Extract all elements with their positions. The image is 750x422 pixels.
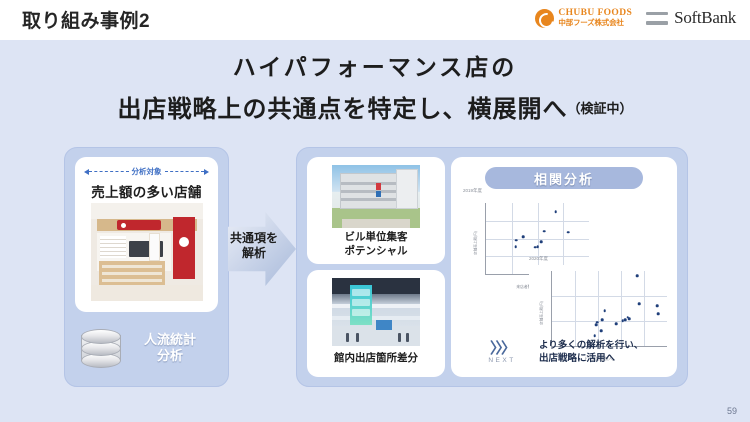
slide: 取り組み事例2 CHUBU FOODS 中部フーズ株式会社 SoftBank ハ…	[0, 0, 750, 422]
softbank-name: SoftBank	[674, 8, 736, 28]
mall-interior-photo	[332, 278, 420, 346]
scatter-point	[601, 318, 604, 321]
traffic-stats-label-line2: 分析	[123, 348, 217, 364]
gridline-h	[552, 296, 667, 297]
gridline-v	[512, 203, 513, 274]
building-potential-caption-line1: ビル単位集客	[307, 231, 445, 245]
traffic-stats-block: 人流統計 分析	[77, 320, 217, 376]
building-potential-caption: ビル単位集客 ポテンシャル	[307, 231, 445, 258]
gridline-v	[563, 203, 564, 274]
page-number: 59	[727, 406, 737, 416]
scatter-point	[600, 330, 603, 333]
softbank-logo: SoftBank	[646, 8, 736, 28]
scatter-point	[515, 239, 518, 242]
correlation-analysis-label: 相関分析	[534, 169, 594, 188]
chubu-foods-name-jp: 中部フーズ株式会社	[558, 19, 632, 27]
scatter-point	[540, 241, 543, 244]
slide-header: 取り組み事例2 CHUBU FOODS 中部フーズ株式会社 SoftBank	[0, 0, 750, 40]
main-title-line1: ハイパフォーマンス店の	[0, 48, 750, 82]
building-exterior-photo	[332, 165, 420, 228]
traffic-stats-label-line1: 人流統計	[123, 332, 217, 348]
analyze-arrow: 共通項を 解析	[228, 212, 296, 286]
next-step-text-line1: より多くの解析を行い、	[539, 339, 643, 352]
scope-label: 分析対象	[129, 166, 165, 177]
scatter-point	[624, 318, 627, 321]
logo-group: CHUBU FOODS 中部フーズ株式会社 SoftBank	[535, 8, 736, 28]
building-potential-caption-line2: ポテンシャル	[307, 245, 445, 259]
scatter-point	[628, 317, 631, 320]
analyze-arrow-line1: 共通項を	[228, 231, 280, 246]
correlation-analysis-card: 相関分析 2019年度 店舗売上額(円) 来店者数(人) 2020年度 店舗売上…	[451, 157, 677, 377]
next-step-block: 〉〉〉 NEXT より多くの解析を行い、 出店戦略に活用へ	[473, 335, 673, 369]
analyze-arrow-line2: 解析	[228, 246, 280, 261]
next-word: NEXT	[473, 357, 531, 364]
scatter-point	[554, 211, 557, 214]
scatter-chart-2020-ylabel: 店舗売上額(円)	[539, 301, 544, 325]
chubu-foods-logo: CHUBU FOODS 中部フーズ株式会社	[535, 9, 632, 28]
mall-location-caption-line1: 館内出店箇所差分	[307, 352, 445, 366]
scatter-point	[595, 323, 598, 326]
circle-c-icon	[535, 9, 554, 28]
arrow-right-head-icon	[204, 169, 209, 175]
next-step-text-line2: 出店戦略に活用へ	[539, 352, 643, 365]
scatter-point	[514, 245, 517, 248]
scatter-chart-2019-ylabel: 店舗売上額(円)	[473, 231, 478, 255]
scatter-point	[596, 321, 599, 324]
scatter-point	[638, 302, 641, 305]
scatter-point	[567, 231, 570, 234]
scatter-point	[615, 322, 618, 325]
analyze-arrow-label: 共通項を 解析	[228, 231, 280, 261]
gridline-v	[538, 203, 539, 274]
main-title-line2-text: 出店戦略上の共通点を特定し、横展開へ	[117, 96, 567, 123]
main-title: ハイパフォーマンス店の 出店戦略上の共通点を特定し、横展開へ（検証中）	[0, 48, 750, 124]
mall-location-caption: 館内出店箇所差分	[307, 352, 445, 366]
store-interior-photo	[91, 203, 203, 301]
scatter-point	[636, 275, 639, 278]
next-chevrons: 〉〉〉	[473, 341, 531, 356]
scatter-point	[603, 310, 606, 313]
main-title-line2: 出店戦略上の共通点を特定し、横展開へ（検証中）	[0, 89, 750, 124]
target-store-title: 売上額の多い店舗	[75, 181, 218, 201]
scatter-point	[657, 312, 660, 315]
scatter-point	[656, 305, 659, 308]
next-arrows-icon: 〉〉〉 NEXT	[473, 341, 531, 364]
scatter-chart-2019-title: 2019年度	[463, 188, 482, 194]
page-title: 取り組み事例2	[22, 6, 150, 33]
scatter-point	[536, 245, 539, 248]
softbank-bars-icon	[646, 12, 668, 25]
gridline-h	[552, 321, 667, 322]
mall-location-card: 館内出店箇所差分	[307, 270, 445, 377]
scatter-chart-2020-title: 2020年度	[529, 256, 548, 262]
traffic-stats-label: 人流統計 分析	[123, 332, 217, 365]
correlation-analysis-pill: 相関分析	[485, 167, 643, 189]
main-title-sub: （検証中）	[567, 101, 632, 116]
building-potential-card: ビル単位集客 ポテンシャル	[307, 157, 445, 264]
analysis-results-panel: ビル単位集客 ポテンシャル 館内出店箇所差分	[296, 147, 688, 387]
scatter-point	[522, 235, 525, 238]
next-step-text: より多くの解析を行い、 出店戦略に活用へ	[539, 339, 643, 366]
analysis-target-panel: 分析対象 売上額の多い店舗	[64, 147, 229, 387]
double-arrow-dashed-icon: 分析対象	[84, 166, 209, 177]
dash-line-right	[165, 171, 205, 172]
database-icon	[77, 325, 123, 371]
target-store-card: 分析対象 売上額の多い店舗	[75, 157, 218, 312]
dash-line-left	[89, 171, 129, 172]
chubu-foods-text: CHUBU FOODS 中部フーズ株式会社	[558, 9, 632, 27]
scatter-point	[543, 230, 546, 233]
